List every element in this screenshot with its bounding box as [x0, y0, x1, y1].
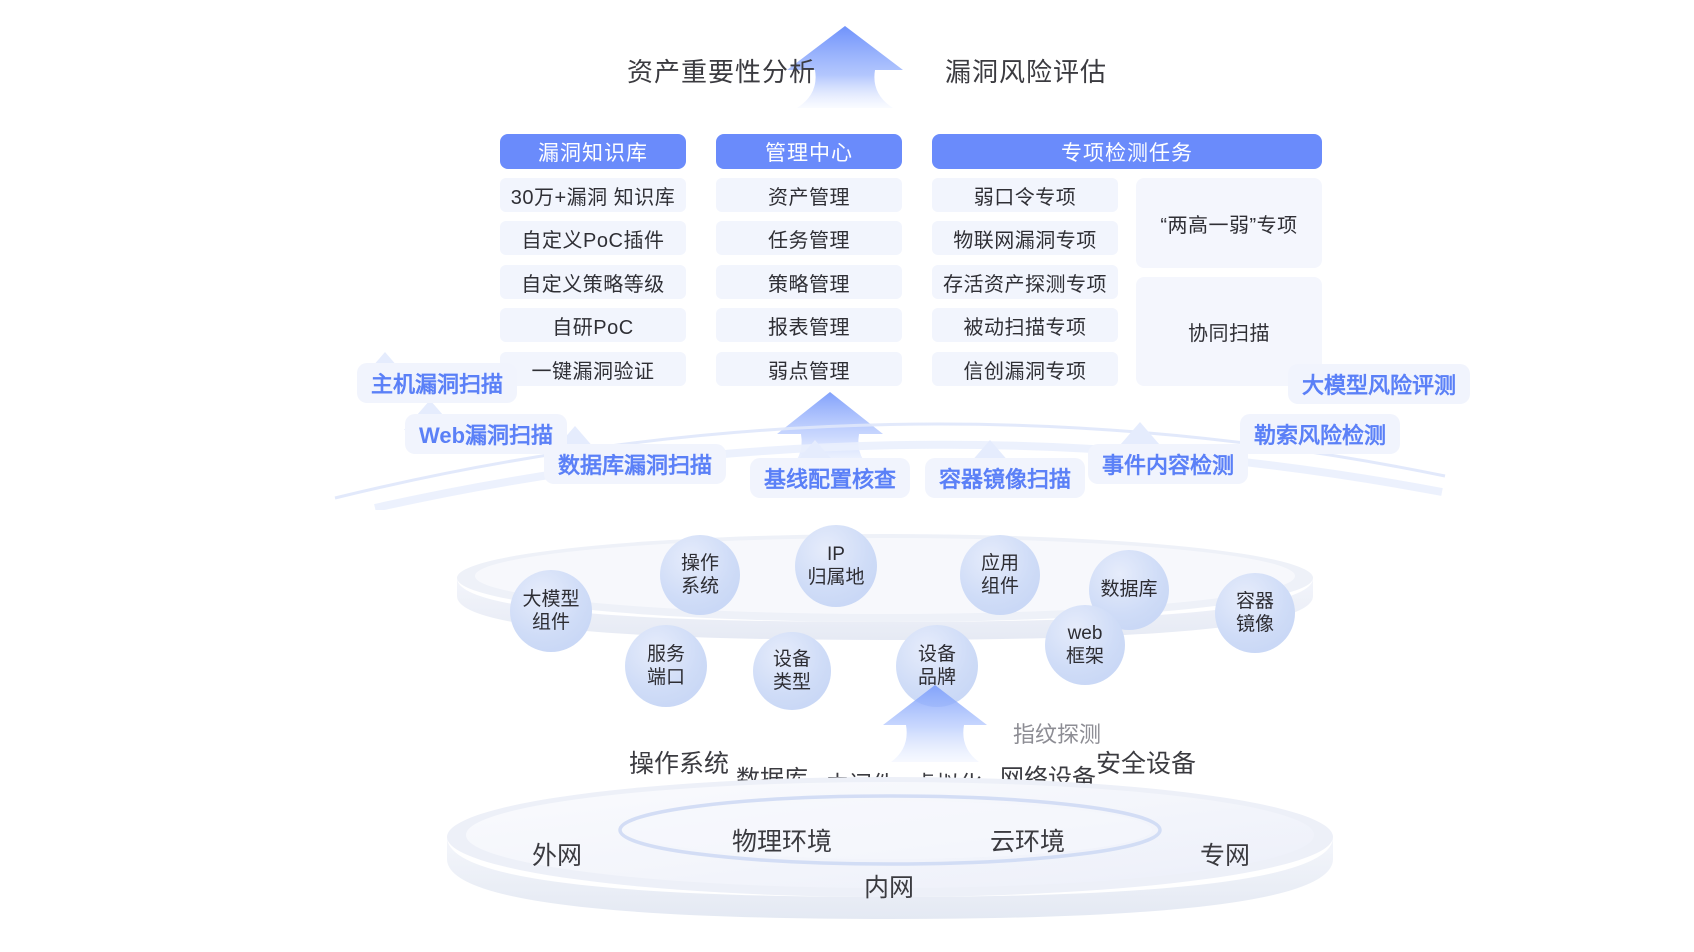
fingerprint-bubble-llm-component[interactable]: 大模型 组件: [510, 570, 592, 652]
column-item[interactable]: 信创漏洞专项: [932, 352, 1118, 386]
fingerprint-bubble-service-port[interactable]: 服务 端口: [625, 625, 707, 707]
fingerprint-bubble-device-type[interactable]: 设备 类型: [753, 632, 831, 710]
scan-tag-host-vuln[interactable]: 主机漏洞扫描: [357, 363, 517, 403]
bubble-line: 系统: [681, 575, 719, 598]
column-item[interactable]: 弱点管理: [716, 352, 902, 386]
bubble-line: 端口: [647, 666, 685, 689]
asset-type-label: 操作系统: [629, 744, 729, 780]
bubble-line: 镜像: [1236, 613, 1274, 636]
fingerprint-bubble-device-brand[interactable]: 设备 品牌: [896, 625, 978, 707]
column-header-management-center[interactable]: 管理中心: [716, 134, 902, 169]
bubble-line: 框架: [1066, 645, 1104, 668]
column-side-item[interactable]: “两高一弱”专项: [1136, 178, 1322, 268]
bubble-line: 品牌: [918, 666, 956, 689]
fingerprint-bubble-container-image[interactable]: 容器 镜像: [1215, 573, 1295, 653]
bubble-line: IP: [827, 543, 845, 566]
column-item[interactable]: 一键漏洞验证: [500, 352, 686, 386]
column-item[interactable]: 物联网漏洞专项: [932, 221, 1118, 255]
bubble-line: 归属地: [807, 566, 864, 589]
column-item[interactable]: 自研PoC: [500, 308, 686, 342]
diagram-canvas: 资产重要性分析 漏洞风险评估 漏洞知识库 30万+漏洞 知识库 自定义PoC插件…: [0, 0, 1694, 952]
asset-type-label: 中间件: [826, 765, 895, 799]
column-header-knowledge-base[interactable]: 漏洞知识库: [500, 134, 686, 169]
bubble-line: 组件: [981, 575, 1019, 598]
column-item[interactable]: 弱口令专项: [932, 178, 1118, 212]
network-label-inner-left: 物理环境: [732, 822, 832, 858]
bubble-line: 设备: [773, 648, 811, 671]
fingerprint-probe-label: 指纹探测: [1013, 717, 1101, 749]
scan-tag-ransomware[interactable]: 勒索风险检测: [1240, 414, 1400, 454]
fingerprint-bubble-app-component[interactable]: 应用 组件: [960, 535, 1040, 615]
column-item[interactable]: 自定义策略等级: [500, 265, 686, 299]
top-right-label: 漏洞风险评估: [945, 52, 1107, 89]
column-item[interactable]: 被动扫描专项: [932, 308, 1118, 342]
bubble-line: 容器: [1236, 590, 1274, 613]
top-left-label: 资产重要性分析: [627, 52, 816, 89]
network-label-outer-left: 外网: [532, 836, 582, 872]
bubble-line: 数据库: [1100, 578, 1157, 601]
scan-tag-event-content[interactable]: 事件内容检测: [1088, 444, 1248, 484]
bubble-line: 设备: [918, 643, 956, 666]
bubble-line: 操作: [681, 552, 719, 575]
network-label-bottom: 内网: [864, 868, 914, 904]
column-header-special-tasks[interactable]: 专项检测任务: [932, 134, 1322, 169]
bubble-line: web: [1068, 622, 1103, 645]
scan-tag-container-image[interactable]: 容器镜像扫描: [925, 458, 1085, 498]
asset-type-label: 网络设备: [1000, 758, 1096, 793]
column-item[interactable]: 30万+漏洞 知识库: [500, 178, 686, 212]
column-item[interactable]: 资产管理: [716, 178, 902, 212]
bubble-line: 服务: [647, 643, 685, 666]
asset-type-label: 安全设备: [1096, 744, 1196, 780]
bubble-line: 应用: [981, 552, 1019, 575]
fingerprint-bubble-web-framework[interactable]: web 框架: [1045, 605, 1125, 685]
column-item[interactable]: 报表管理: [716, 308, 902, 342]
scan-tag-web-vuln[interactable]: Web漏洞扫描: [405, 414, 567, 454]
column-item[interactable]: 存活资产探测专项: [932, 265, 1118, 299]
network-label-inner-right: 云环境: [990, 822, 1065, 858]
scan-tag-db-vuln[interactable]: 数据库漏洞扫描: [544, 444, 726, 484]
scan-tag-llm-risk[interactable]: 大模型风险评测: [1288, 364, 1470, 404]
bubble-line: 组件: [532, 611, 570, 634]
bubble-line: 类型: [773, 671, 811, 694]
asset-type-label: 虚拟化: [913, 765, 982, 799]
network-label-outer-right: 专网: [1200, 836, 1250, 872]
column-item[interactable]: 自定义PoC插件: [500, 221, 686, 255]
fingerprint-bubble-os[interactable]: 操作 系统: [660, 535, 740, 615]
fingerprint-bubble-ip-location[interactable]: IP 归属地: [795, 525, 877, 607]
asset-type-label: 数据库: [736, 759, 808, 794]
column-item[interactable]: 任务管理: [716, 221, 902, 255]
column-item[interactable]: 策略管理: [716, 265, 902, 299]
bubble-line: 大模型: [522, 588, 579, 611]
scan-tag-baseline[interactable]: 基线配置核查: [750, 458, 910, 498]
